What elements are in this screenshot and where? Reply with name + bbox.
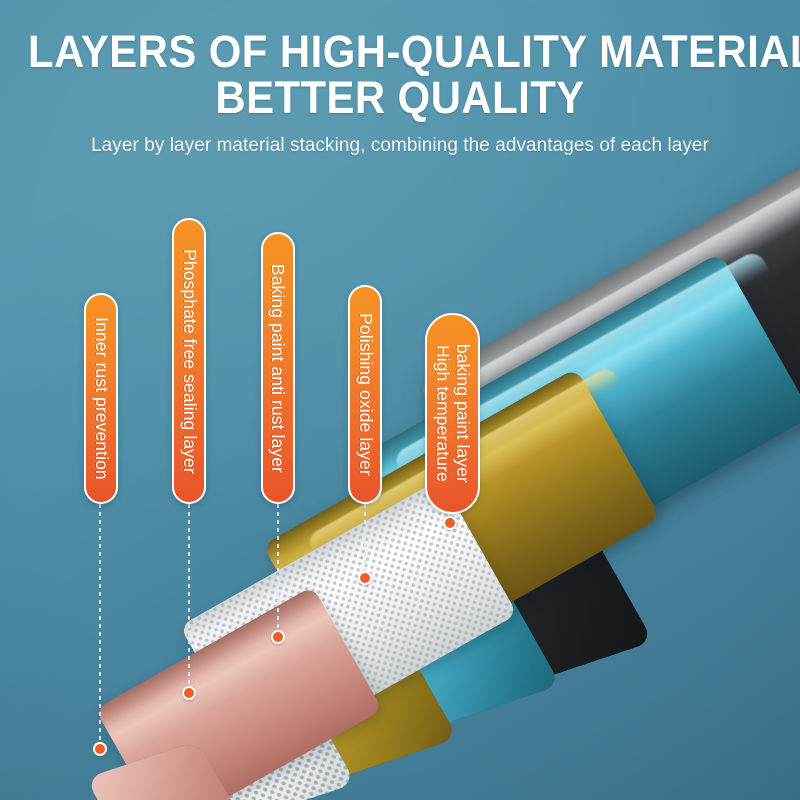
connector-dot-2 bbox=[182, 686, 196, 700]
page-title-line-1: LAYERS OF HIGH-QUALITY MATERIALS bbox=[28, 30, 772, 73]
callout-label: High temperature bbox=[433, 345, 452, 482]
connector-line-3 bbox=[277, 504, 279, 630]
page-subtitle: Layer by layer material stacking, combin… bbox=[12, 134, 788, 157]
callout-label: Polishing oxide layer bbox=[356, 313, 375, 476]
callout-baking-paint-anti-rust-layer[interactable]: Baking paint anti rust layer bbox=[261, 232, 295, 504]
callout-label: Inner rust prevention bbox=[92, 317, 111, 480]
header: LAYERS OF HIGH-QUALITY MATERIALS BETTER … bbox=[0, 0, 800, 157]
callout-label-secondary: baking paint layer bbox=[453, 344, 472, 483]
connector-line-1 bbox=[99, 504, 101, 742]
connector-dot-1 bbox=[93, 742, 107, 756]
callout-label: Phosphate free sealing layer bbox=[180, 249, 199, 474]
callout-inner-rust-prevention[interactable]: Inner rust prevention bbox=[84, 293, 118, 504]
callout-polishing-oxide-layer[interactable]: Polishing oxide layer bbox=[348, 285, 382, 504]
connector-line-4 bbox=[364, 504, 366, 571]
connector-dot-3 bbox=[271, 630, 285, 644]
callout-high-temperature-baking-paint-layer[interactable]: High temperature baking paint layer bbox=[425, 313, 480, 514]
connector-line-2 bbox=[188, 504, 190, 686]
connector-dot-4 bbox=[358, 571, 372, 585]
callout-label: Baking paint anti rust layer bbox=[269, 263, 288, 472]
infographic-canvas: Inner rust prevention Phosphate free sea… bbox=[0, 0, 800, 800]
page-title-line-2: BETTER QUALITY bbox=[28, 76, 772, 119]
connector-dot-5 bbox=[443, 516, 457, 530]
callout-phosphate-free-sealing-layer[interactable]: Phosphate free sealing layer bbox=[172, 218, 206, 504]
